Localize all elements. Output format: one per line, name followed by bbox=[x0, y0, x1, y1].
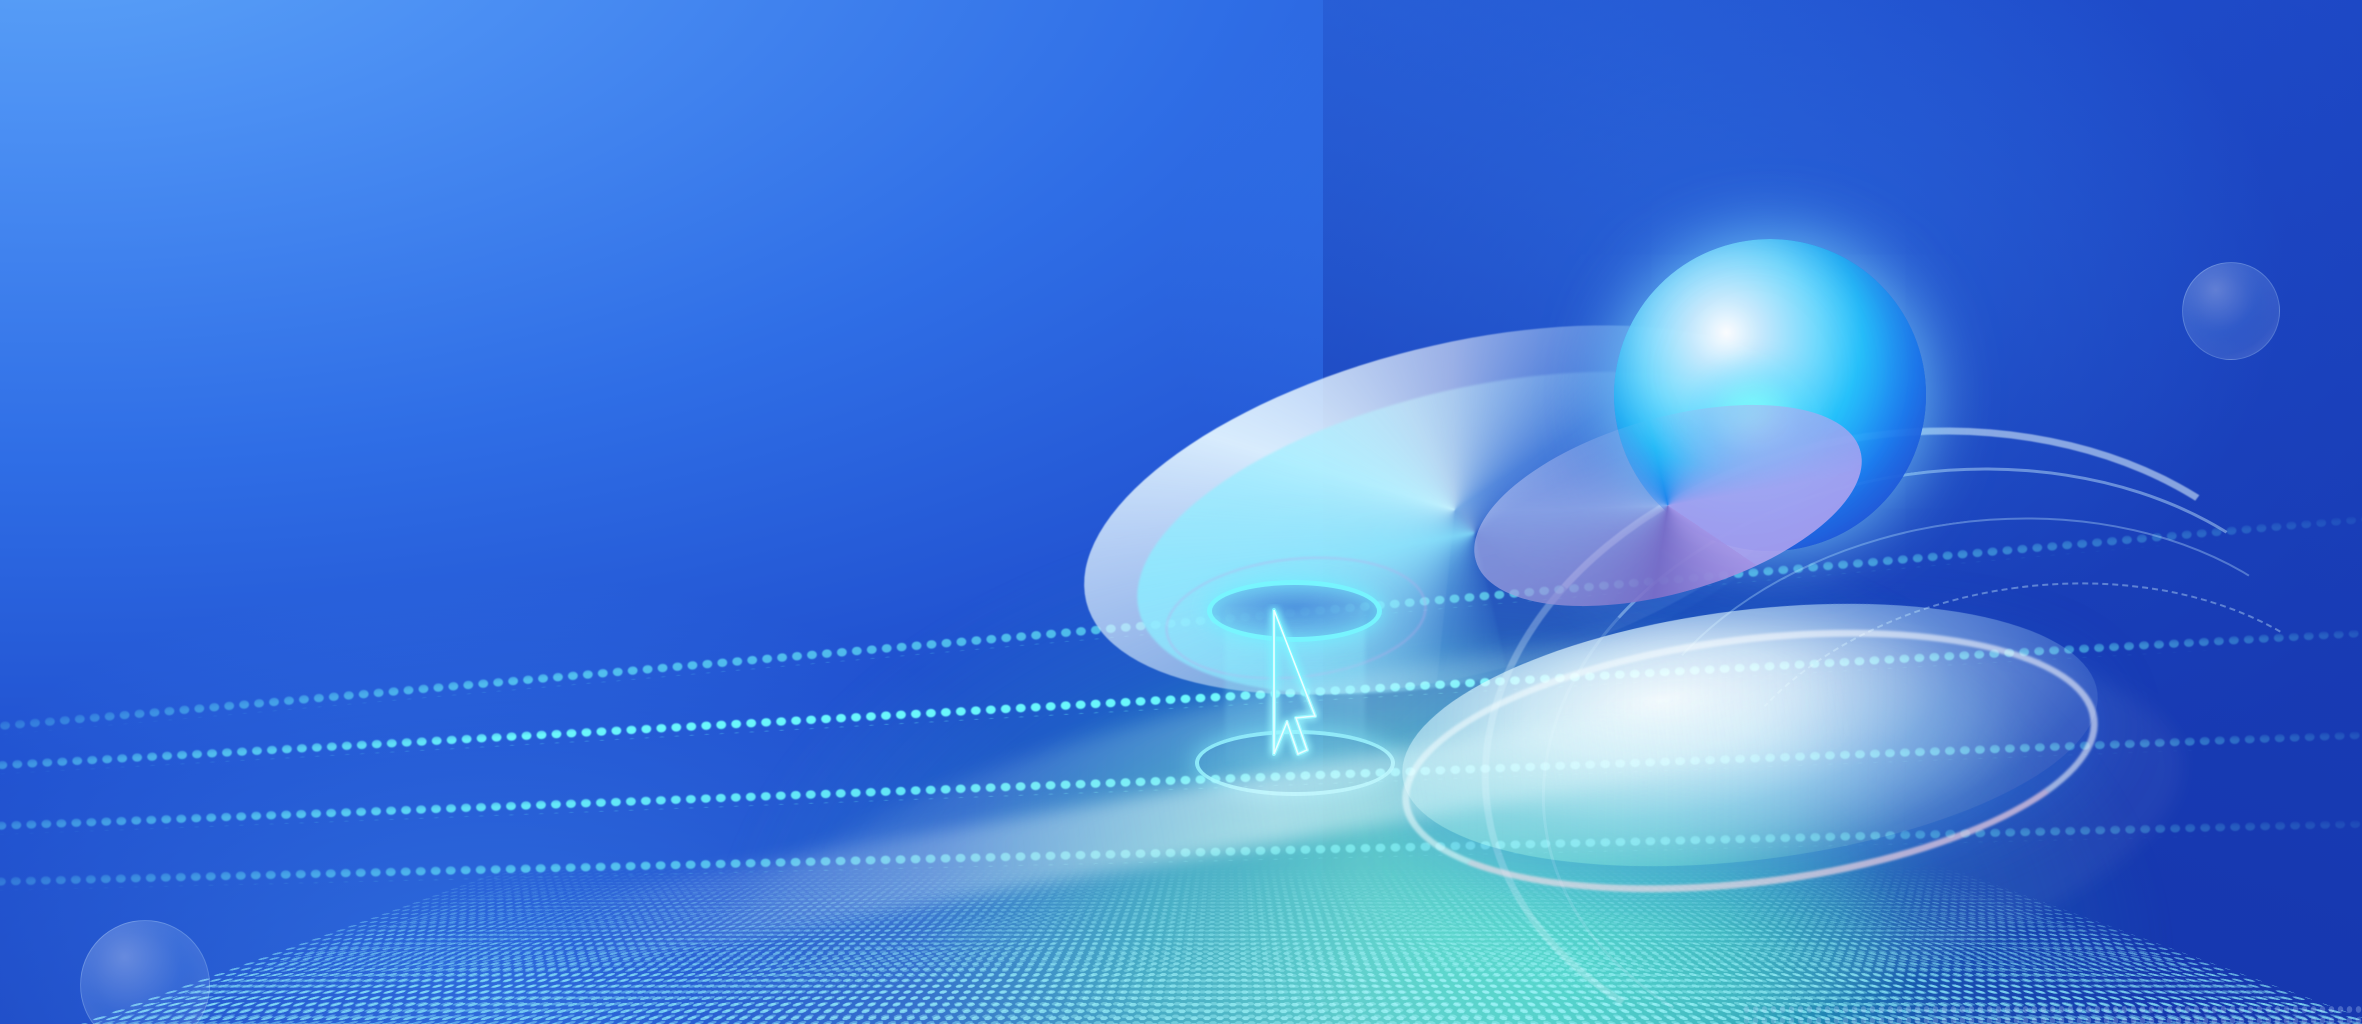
bubble-icon bbox=[80, 920, 210, 1024]
hero-banner bbox=[0, 0, 2362, 1024]
hero-copy bbox=[228, 258, 1088, 280]
bubble-icon bbox=[2182, 262, 2280, 360]
city-reflection-icon bbox=[1742, 1004, 2362, 1024]
